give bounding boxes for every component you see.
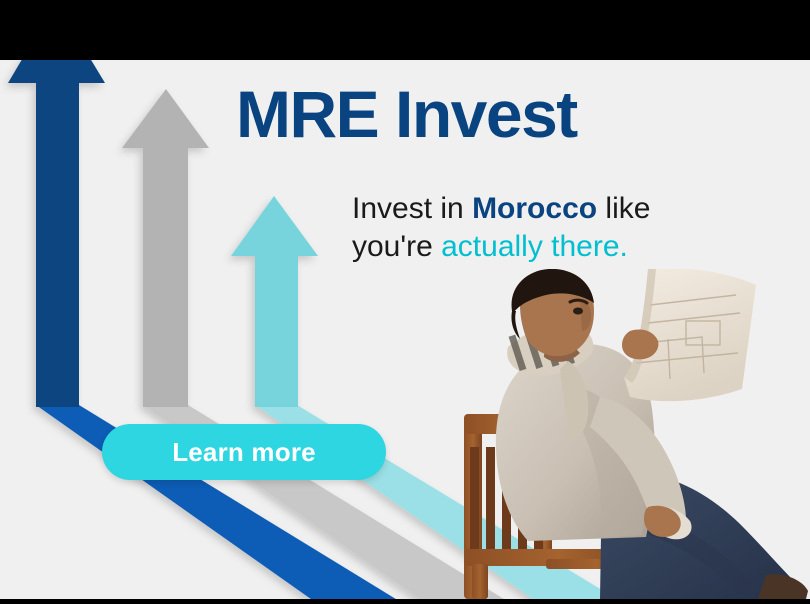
subtitle-line1-post: like	[597, 192, 650, 225]
up-arrow-cyan-head	[231, 196, 318, 256]
learn-more-button[interactable]: Learn more	[102, 424, 386, 480]
subtitle-accent-actually-there: actually there.	[441, 230, 628, 263]
page-title: MRE Invest	[236, 80, 577, 149]
up-arrow-gray-shaft	[143, 147, 188, 407]
up-arrow-cyan-shaft	[255, 255, 298, 407]
shoe	[758, 574, 808, 599]
letterbox-bar-top	[0, 0, 810, 60]
up-arrow-blue-shaft	[36, 82, 79, 407]
up-arrow-gray-head	[122, 89, 209, 148]
man-reading-photo	[450, 269, 810, 599]
subtitle: Invest in Morocco like you're actually t…	[352, 190, 702, 267]
subtitle-line2-pre: you're	[352, 230, 441, 263]
subtitle-highlight-morocco: Morocco	[472, 192, 597, 225]
promo-banner: MRE Invest Invest in Morocco like you're…	[0, 0, 810, 604]
subtitle-line1-pre: Invest in	[352, 192, 472, 225]
letterbox-bar-bottom	[0, 599, 810, 604]
